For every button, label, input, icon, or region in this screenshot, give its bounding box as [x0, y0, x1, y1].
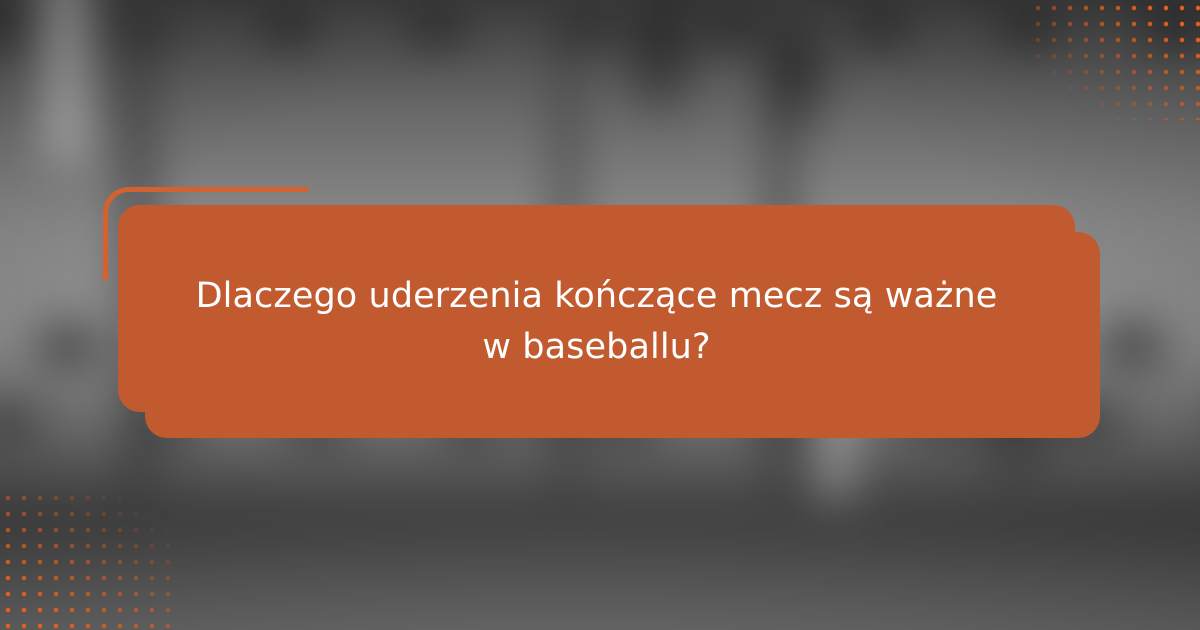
share-card-canvas: Dlaczego uderzenia kończące mecz są ważn… — [0, 0, 1200, 630]
page-title: Dlaczego uderzenia kończące mecz są ważn… — [196, 271, 998, 372]
halftone-dots-top-right-icon — [1030, 0, 1200, 120]
halftone-dots-bottom-left-icon — [0, 490, 180, 630]
headline-container: Dlaczego uderzenia kończące mecz są ważn… — [118, 205, 1075, 438]
